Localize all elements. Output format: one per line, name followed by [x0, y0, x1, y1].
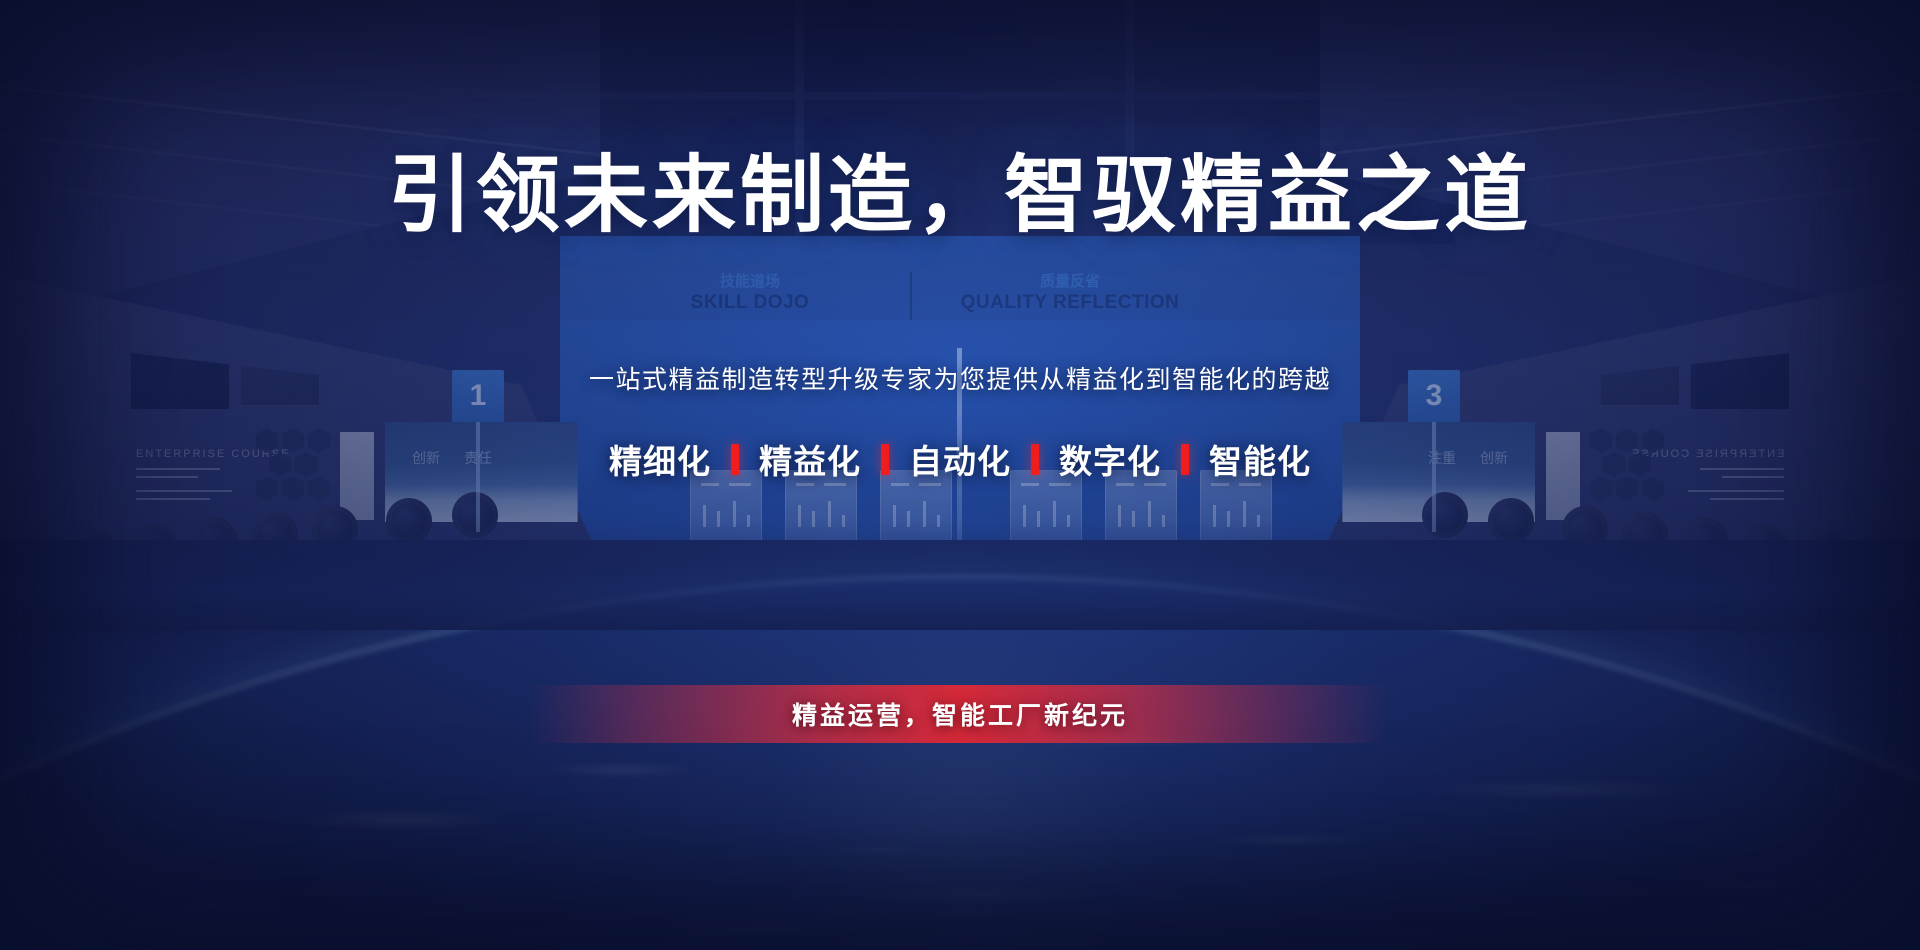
tagline-ribbon: 精益运营，智能工厂新纪元: [530, 685, 1390, 743]
keyword-separator-bar: [731, 444, 739, 475]
hero-content: 引领未来制造，智驭精益之道 一站式精益制造转型升级专家为您提供从精益化到智能化的…: [0, 0, 1920, 950]
keyword-separator-bar: [1031, 444, 1039, 475]
keyword-item: 精细化: [609, 435, 711, 483]
hero-banner: 技能道场 SKILL DOJO 质量反省 QUALITY REFLECTION: [0, 0, 1920, 950]
keyword-item: 数字化: [1059, 435, 1161, 483]
keyword-item: 智能化: [1209, 435, 1311, 483]
keyword-list: 精细化 精益化 自动化 数字化 智能化: [0, 435, 1920, 483]
page-title: 引领未来制造，智驭精益之道: [0, 128, 1920, 249]
tagline-text: 精益运营，智能工厂新纪元: [792, 696, 1128, 732]
keyword-item: 自动化: [909, 435, 1011, 483]
keyword-separator-bar: [1181, 444, 1189, 475]
keyword-item: 精益化: [759, 435, 861, 483]
hero-subtitle: 一站式精益制造转型升级专家为您提供从精益化到智能化的跨越: [0, 360, 1920, 396]
keyword-separator-bar: [881, 444, 889, 475]
